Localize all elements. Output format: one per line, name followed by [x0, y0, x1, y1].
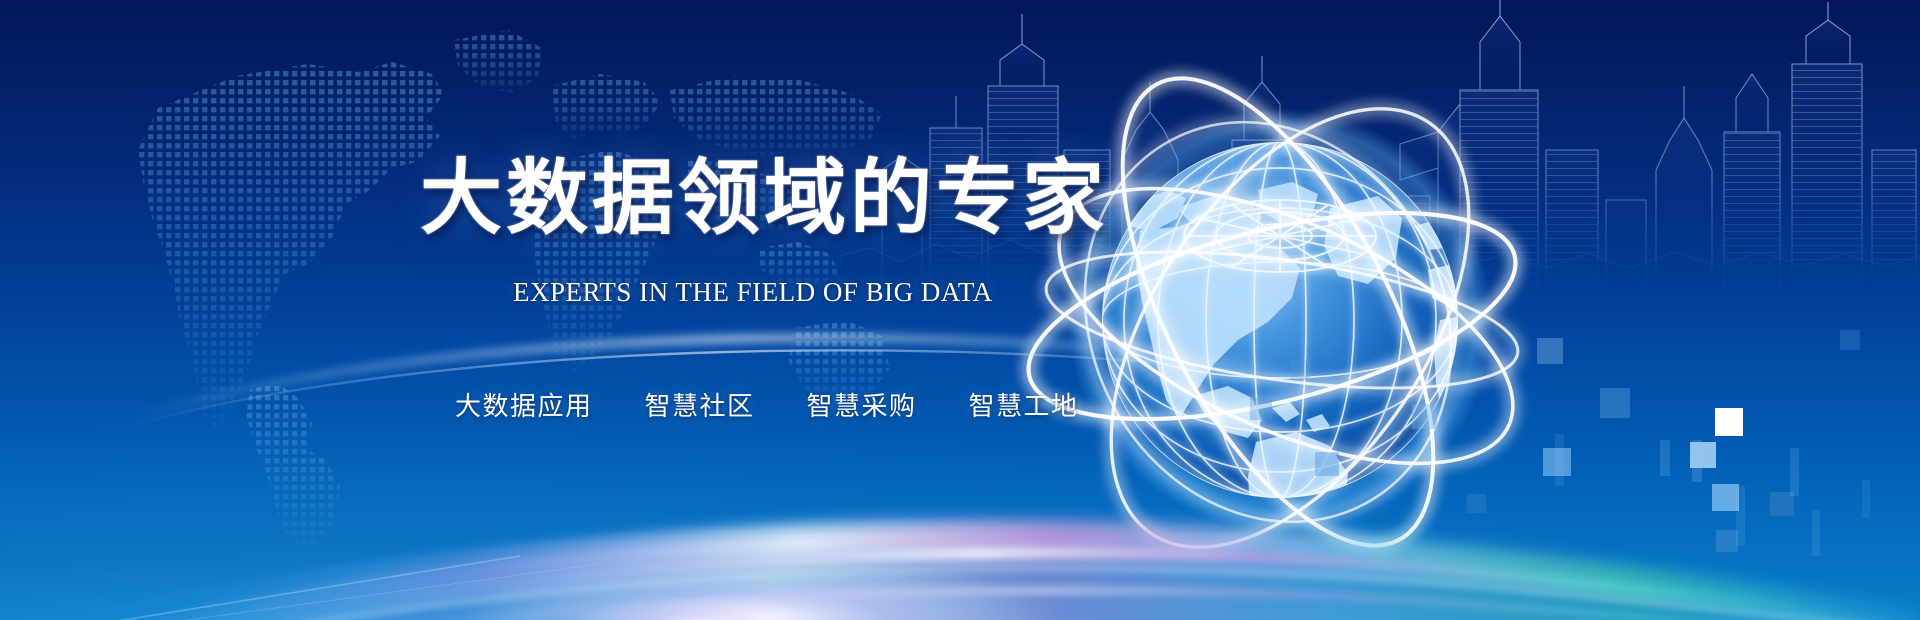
banner-nav: 大数据应用 智慧社区 智慧采购 智慧工地 — [455, 386, 1079, 423]
nav-item-smart-procurement[interactable]: 智慧采购 — [807, 386, 917, 423]
nav-item-smart-community[interactable]: 智慧社区 — [645, 386, 755, 423]
big-data-hero-banner: 大数据领域的专家 EXPERTS IN THE FIELD OF BIG DAT… — [0, 0, 1920, 620]
banner-text-block: 大数据领域的专家 EXPERTS IN THE FIELD OF BIG DAT… — [0, 0, 1160, 620]
nav-item-smart-construction-site[interactable]: 智慧工地 — [969, 386, 1079, 423]
page-title: 大数据领域的专家 — [420, 158, 1108, 240]
nav-item-big-data-application[interactable]: 大数据应用 — [455, 386, 593, 423]
page-subtitle: EXPERTS IN THE FIELD OF BIG DATA — [513, 277, 993, 308]
